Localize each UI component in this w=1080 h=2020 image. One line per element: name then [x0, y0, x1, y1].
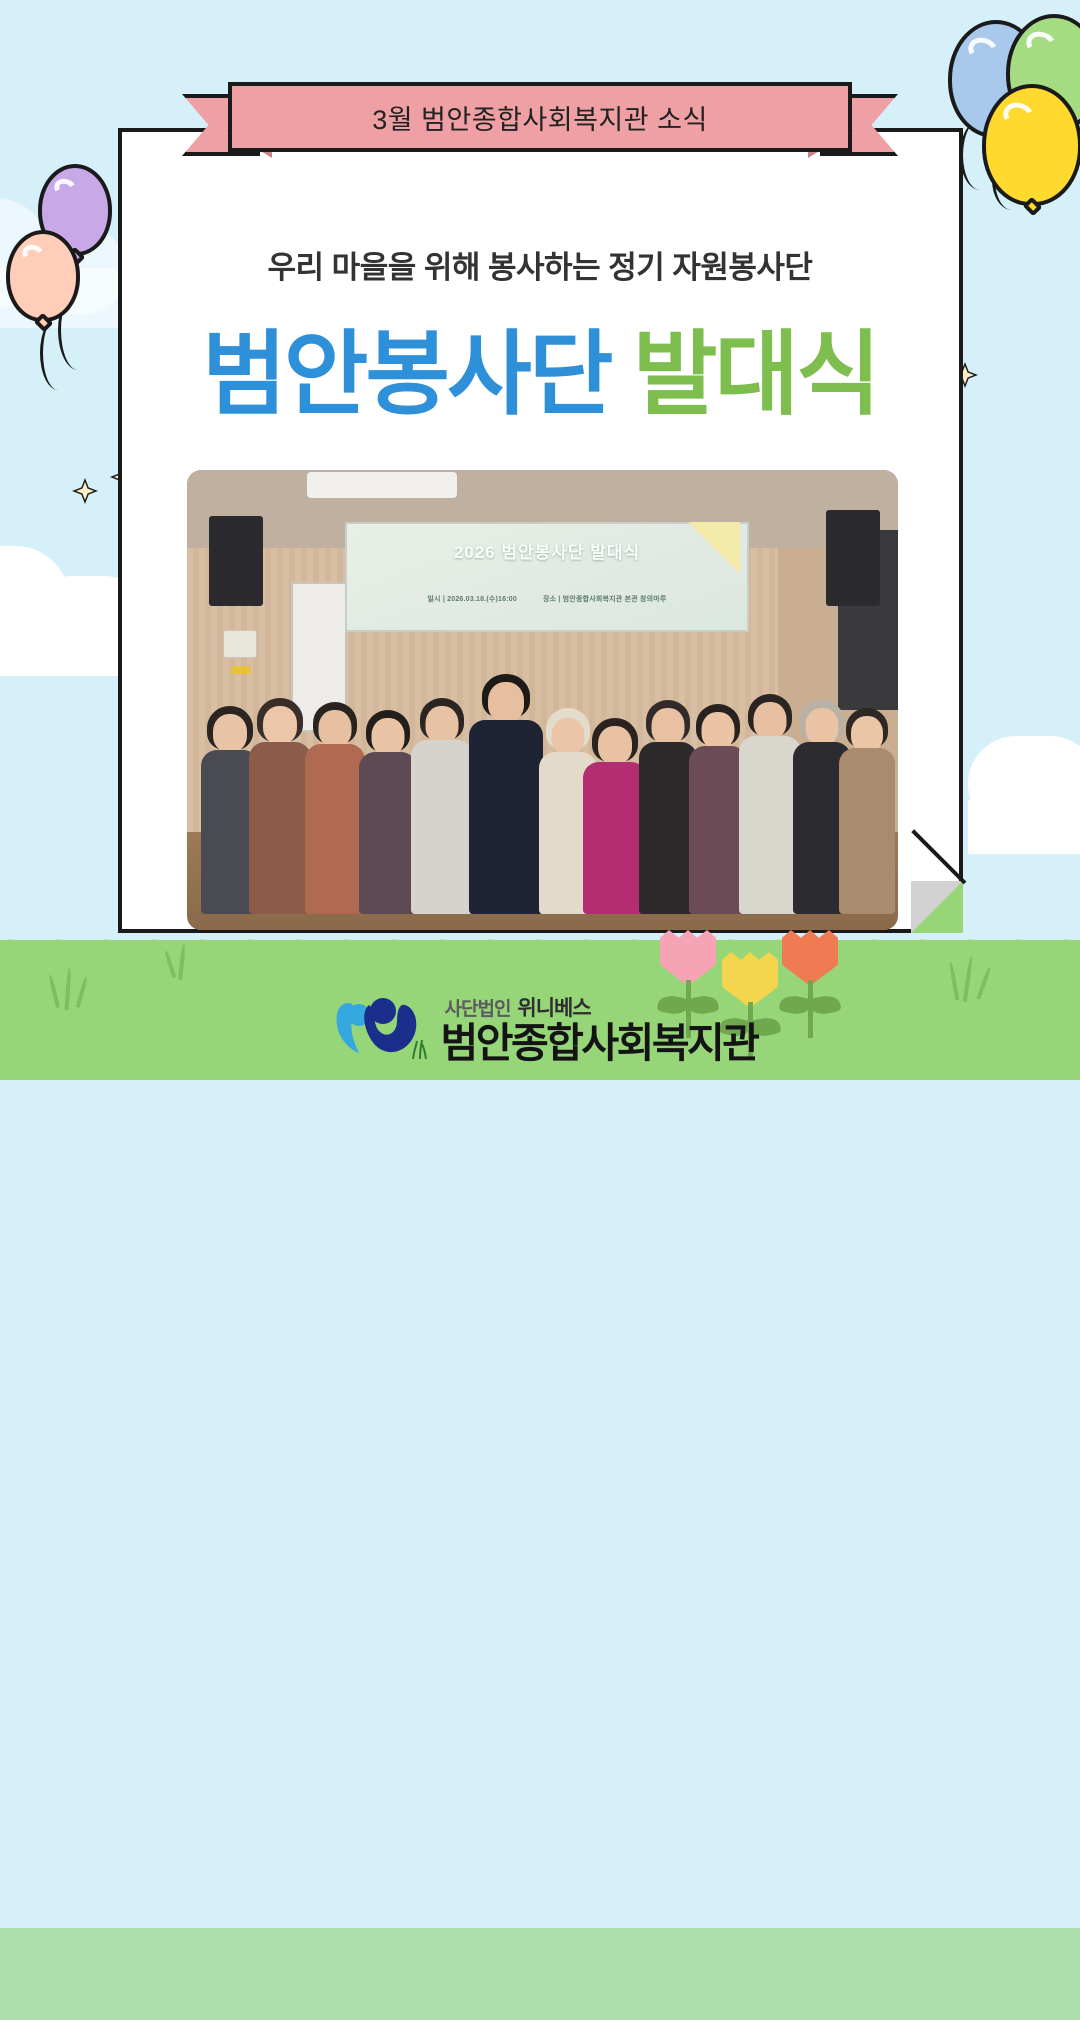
org-name-text: 범안종합사회복지관 [441, 1023, 758, 1064]
organization-logo-icon [323, 995, 427, 1061]
ribbon-label: 3월 범안종합사회복지관 소식 [372, 98, 708, 137]
person [739, 694, 801, 914]
speaker-right-icon [826, 510, 880, 606]
screen-meta: 일시 | 2026.03.18.(수)16:00 장소 | 범안종합사회복지관 … [345, 594, 749, 604]
organization-name-block: 사단법인 위니베스 범안종합사회복지관 [441, 992, 758, 1064]
org-brand-text: 위니베스 [517, 992, 590, 1022]
title-part-green: 발대식 [633, 324, 878, 426]
screen-date-text: 일시 | 2026.03.18.(수)16:00 [427, 594, 517, 604]
person [411, 698, 473, 914]
speaker-left-icon [209, 516, 263, 606]
page-title: 범안봉사단 발대식 [0, 300, 1080, 433]
organization-subtitle: 사단법인 위니베스 [441, 992, 758, 1022]
person [249, 698, 311, 914]
person [839, 708, 895, 914]
page-fold-corner [911, 881, 963, 933]
screen-place-text: 장소 | 범안종합사회복지관 본관 창의마루 [543, 594, 667, 604]
footer-logo: 사단법인 위니베스 범안종합사회복지관 [0, 980, 1080, 1076]
org-prefix-text: 사단법인 [445, 994, 511, 1021]
title-part-blue: 범안봉사단 [202, 324, 610, 426]
subtitle-text: 우리 마을을 위해 봉사하는 정기 자원봉사단 [0, 242, 1080, 287]
person-host [469, 674, 543, 914]
person [583, 718, 647, 914]
screen-title-text: 2026 범안봉사단 발대식 [345, 538, 749, 563]
poster-card: 3월 범안종합사회복지관 소식 우리 마을을 위해 봉사하는 정기 자원봉사단 … [0, 0, 1080, 1080]
page-fold-line [911, 829, 966, 884]
person [359, 710, 417, 914]
person [305, 702, 365, 914]
grass-accent-icon [409, 1037, 431, 1059]
ribbon-body: 3월 범안종합사회복지관 소식 [228, 82, 852, 152]
ribbon-banner: 3월 범안종합사회복지관 소식 [0, 82, 1080, 168]
event-photo: 2026 범안봉사단 발대식 일시 | 2026.03.18.(수)16:00 … [187, 470, 898, 930]
